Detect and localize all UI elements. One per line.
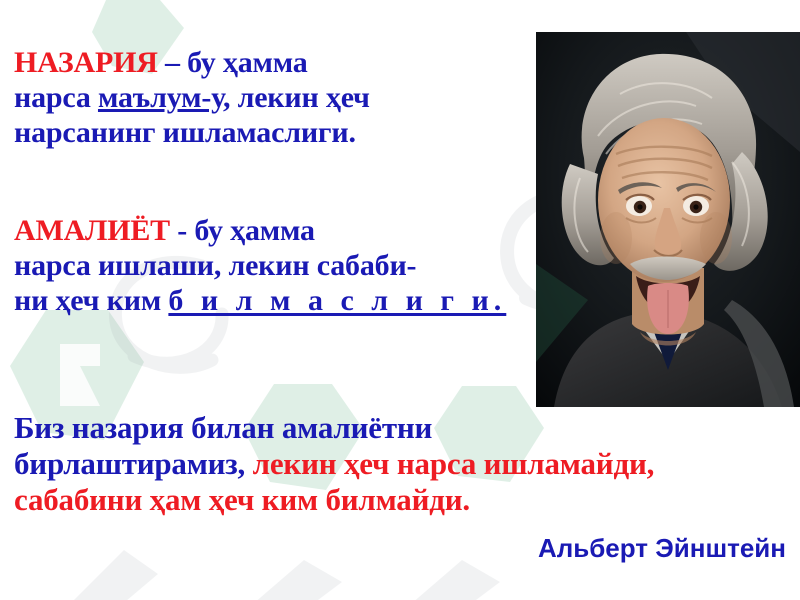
paragraph-practice-line-2: нарса ишлаши, лекин сабаби- <box>14 249 526 284</box>
p2-l2-w4: сабаби- <box>317 249 417 282</box>
p1-l2-w1: нарса <box>14 81 91 114</box>
p3-l1-w3: билан <box>191 410 274 445</box>
paragraph-theory: НАЗАРИЯ – бу ҳамма нарса маълум-у, лекин… <box>14 46 526 150</box>
p1-l1-w1: – <box>165 46 180 79</box>
paragraph-conclusion-line-2: бирлаштирамиз, лекин ҳеч нарса ишламайди… <box>14 446 786 482</box>
paragraph-theory-line-3: нарсанинг ишламаслиги. <box>14 116 526 151</box>
text-content: НАЗАРИЯ – бу ҳамма нарса маълум-у, лекин… <box>0 0 800 600</box>
p3-l1-w2: назария <box>72 410 184 445</box>
p2-l1-w2: бу <box>194 214 222 247</box>
keyword-nazariya: НАЗАРИЯ <box>14 46 158 79</box>
paragraph-theory-line-1: НАЗАРИЯ – бу ҳамма <box>14 46 526 81</box>
slide-canvas: НАЗАРИЯ – бу ҳамма нарса маълум-у, лекин… <box>0 0 800 600</box>
p2-l2-w3: лекин <box>228 249 309 282</box>
p3-l1-w1: Биз <box>14 410 64 445</box>
p1-l2-w4: ҳеч <box>326 81 370 114</box>
p1-l2-w3: лекин <box>238 81 319 114</box>
p1-l2-underlined: маълум-у, <box>98 81 230 114</box>
keyword-amaliyot: АМАЛИЁТ <box>14 214 170 247</box>
paragraph-conclusion-line-1: Биз назария билан амалиётни <box>14 410 786 446</box>
paragraph-practice: АМАЛИЁТ - бу ҳамма нарса ишлаши, лекин с… <box>14 214 526 318</box>
p1-l1-w2: бу <box>187 46 215 79</box>
p2-l3-prefix: ни ҳеч ким <box>14 284 161 317</box>
paragraph-conclusion-line-3: сабабини ҳам ҳеч ким билмайди. <box>14 482 786 518</box>
p1-l1-w3: ҳамма <box>223 46 308 79</box>
paragraph-practice-line-3: ни ҳеч ким б и л м а с л и г и. <box>14 284 526 319</box>
p2-l3-spaced-bilmasligi: б и л м а с л и г и. <box>168 284 506 317</box>
p2-l2-w2: ишлаши, <box>98 249 221 282</box>
p2-l1-w3: ҳамма <box>230 214 315 247</box>
paragraph-theory-line-2: нарса маълум-у, лекин ҳеч <box>14 81 526 116</box>
paragraph-conclusion: Биз назария билан амалиётни бирлаштирами… <box>14 410 786 518</box>
p3-l1-w4: амалиётни <box>282 410 432 445</box>
attribution-einstein: Альберт Эйнштейн <box>0 533 786 564</box>
p2-l1-w1: - <box>177 214 187 247</box>
p2-l2-w1: нарса <box>14 249 91 282</box>
paragraph-practice-line-1: АМАЛИЁТ - бу ҳамма <box>14 214 526 249</box>
p3-l2-red: лекин ҳеч нарса ишламайди, <box>253 446 654 481</box>
p3-l2-blue: бирлаштирамиз, <box>14 446 245 481</box>
